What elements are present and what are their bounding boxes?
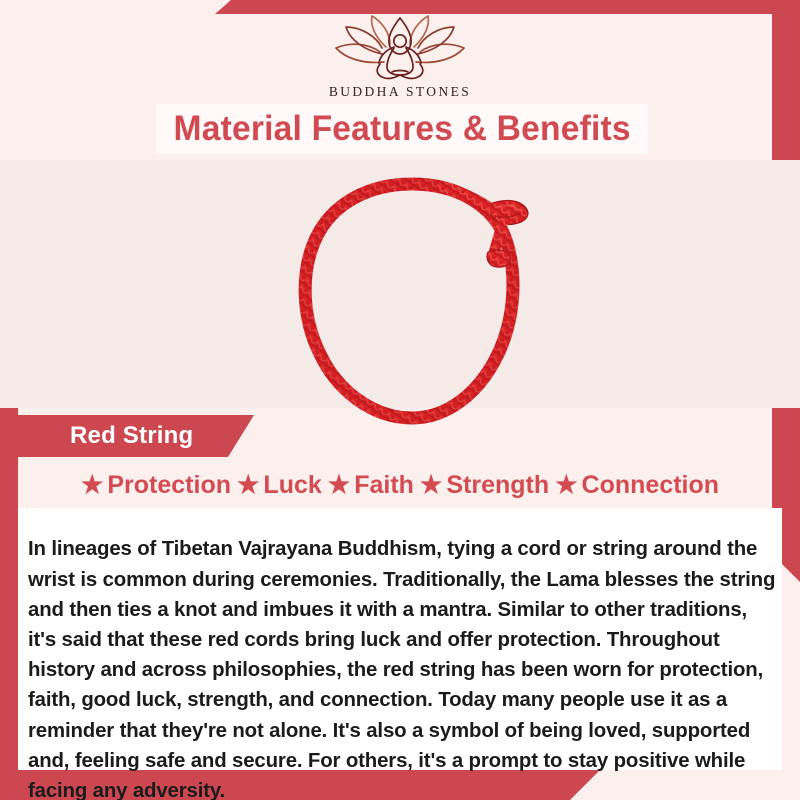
benefit-label: Luck — [263, 471, 321, 500]
benefit-item-connection: ★ Connection — [555, 471, 719, 500]
header: BUDDHA STONES Material Features & Benefi… — [0, 0, 800, 160]
benefit-label: Faith — [354, 471, 414, 500]
brand-logo: BUDDHA STONES — [0, 14, 800, 100]
star-icon: ★ — [81, 473, 103, 498]
page-title-band: Material Features & Benefits — [156, 104, 648, 154]
red-string-ribbon: Red String — [14, 415, 254, 457]
red-string-bracelet-image — [262, 168, 562, 438]
benefit-item-faith: ★ Faith — [328, 471, 414, 500]
star-icon: ★ — [328, 473, 350, 498]
benefit-item-strength: ★ Strength — [420, 471, 549, 500]
benefit-item-luck: ★ Luck — [237, 471, 322, 500]
infographic-page: BUDDHA STONES Material Features & Benefi… — [0, 0, 800, 800]
ribbon-label: Red String — [70, 422, 193, 450]
star-icon: ★ — [237, 473, 259, 498]
benefit-label: Connection — [582, 471, 720, 500]
benefit-label: Strength — [446, 471, 549, 500]
description-paragraph: In lineages of Tibetan Vajrayana Buddhis… — [28, 534, 776, 800]
page-title: Material Features & Benefits — [173, 109, 630, 149]
benefit-item-protection: ★ Protection — [81, 471, 231, 500]
benefits-list: ★ Protection ★ Luck ★ Faith ★ Strength ★… — [18, 463, 782, 508]
star-icon: ★ — [555, 473, 577, 498]
description-card: In lineages of Tibetan Vajrayana Buddhis… — [18, 508, 782, 770]
star-icon: ★ — [420, 473, 442, 498]
benefit-label: Protection — [107, 471, 231, 500]
brand-name: BUDDHA STONES — [329, 84, 471, 100]
lotus-meditation-logo-icon — [324, 14, 476, 82]
